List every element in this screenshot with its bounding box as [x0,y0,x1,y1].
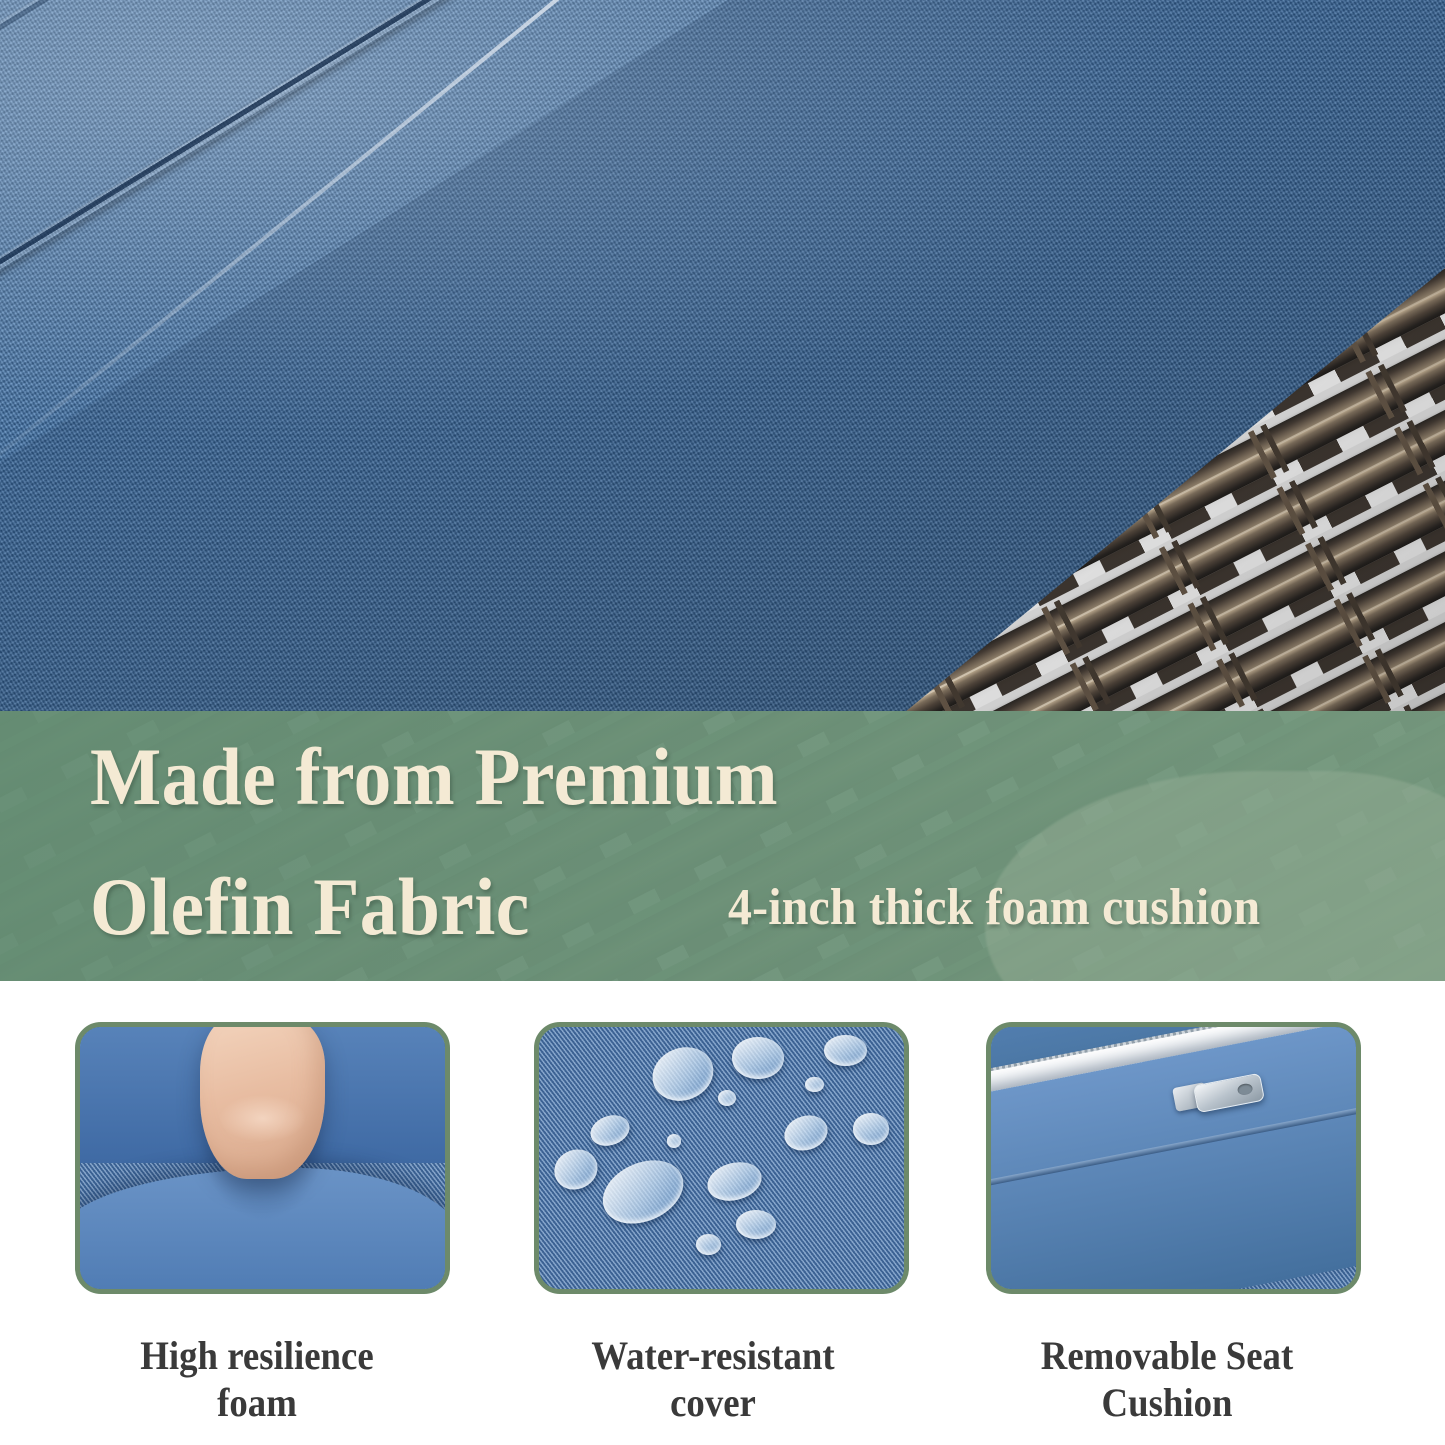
caption-line-2: Cushion [988,1379,1347,1426]
feature-card-water-resistant-cover [534,1022,909,1294]
banner-headline: Made from Premium Olefin Fabric [90,736,778,948]
water-droplet-icon [853,1113,890,1144]
caption-line-1: Water-resistant [534,1332,893,1379]
feature-caption-removable-seat-cushion: Removable Seat Cushion [988,1332,1347,1426]
feature-caption-high-resilience-foam: High resilience foam [78,1332,437,1426]
caption-line-1: Removable Seat [988,1332,1347,1379]
banner-subheadline: 4-inch thick foam cushion [728,882,1260,934]
headline-line-1: Made from Premium [90,731,778,822]
feature-caption-water-resistant-cover: Water-resistant cover [534,1332,893,1426]
headline-line-2: Olefin Fabric [90,866,778,948]
water-droplets-on-fabric-image [539,1027,904,1289]
caption-line-2: cover [534,1379,893,1426]
hand-pressing-cushion-image [80,1027,445,1289]
hero-product-photo [0,0,1445,712]
zipper-on-cushion-cover-image [991,1027,1356,1289]
feature-card-removable-seat-cushion [986,1022,1361,1294]
caption-line-1: High resilience [78,1332,437,1379]
product-feature-graphic: Made from Premium Olefin Fabric 4-inch t… [0,0,1445,1445]
caption-line-2: foam [78,1379,437,1426]
water-droplet-icon [718,1090,736,1106]
feature-card-high-resilience-foam [75,1022,450,1294]
water-droplet-icon [732,1037,783,1079]
water-droplet-icon [667,1134,682,1147]
water-droplet-icon [805,1077,823,1093]
